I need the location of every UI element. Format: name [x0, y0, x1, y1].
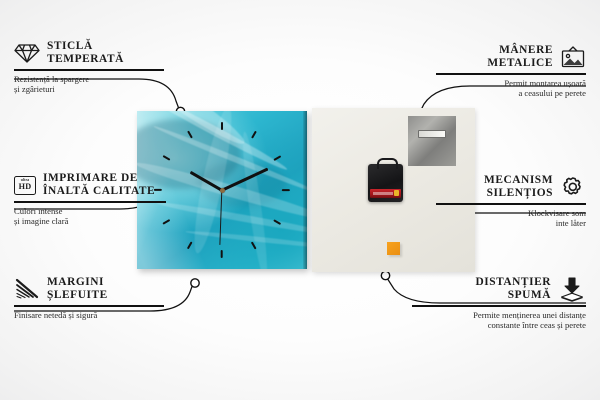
- diamond-icon: [14, 42, 40, 64]
- clock-tick: [251, 131, 256, 139]
- clock-center-pin: [220, 188, 225, 193]
- feature-title: STICLĂ TEMPERATĂ: [47, 40, 124, 66]
- clock-tick: [221, 250, 223, 258]
- feature-desc: Culori intense și imagine clară: [14, 206, 166, 227]
- feature-title: IMPRIMARE DE ÎNALTĂ CALITATE: [43, 172, 155, 198]
- feature-rule: [436, 73, 586, 74]
- foam-spacer-pad: [387, 242, 400, 255]
- feature-title: DISTANȚIER SPUMĂ: [475, 276, 551, 302]
- feature-desc: Klockvisare som inte låter: [436, 208, 586, 229]
- battery: [370, 189, 401, 198]
- gear-icon: [560, 175, 586, 199]
- hanging-frame-icon: [560, 45, 586, 69]
- ultra-hd-icon: ultra HD: [14, 176, 36, 195]
- feature-desc: Rezistență la spargere și zgârieturi: [14, 74, 164, 95]
- feature-tempered-glass: STICLĂ TEMPERATĂ Rezistență la spargere …: [14, 40, 164, 95]
- feature-rule: [412, 305, 586, 306]
- battery-label: [373, 192, 393, 195]
- feature-metal-handles: MÂNERE METALICE Permit montarea ușoară a…: [436, 44, 586, 99]
- clock-tick: [282, 189, 290, 191]
- feature-desc: Finisare netedă și sigură: [14, 310, 164, 320]
- press-down-icon: [558, 276, 586, 302]
- feature-silent-mechanism: MECANISM SILENȚIOS Klockvisare som inte …: [436, 174, 586, 229]
- clock-tick: [274, 155, 282, 160]
- clock-tick: [187, 242, 192, 250]
- feature-rule: [14, 69, 164, 70]
- feature-title: MECANISM SILENȚIOS: [484, 174, 553, 200]
- feature-title: MARGINI ȘLEFUITE: [47, 276, 108, 302]
- feature-title: MÂNERE METALICE: [487, 44, 553, 70]
- battery-plus-terminal: [394, 190, 399, 196]
- feature-desc: Permite menținerea unei distanțe constan…: [412, 310, 586, 331]
- connector-dot-foam-spacer: [381, 271, 389, 279]
- feature-rule: [14, 201, 166, 202]
- glass-edge-shadow: [303, 111, 307, 269]
- feature-rule: [14, 305, 164, 306]
- feature-desc: Permit montarea ușoară a ceasului pe per…: [436, 78, 586, 99]
- feature-rule: [436, 203, 586, 204]
- metal-hanger-plate: [408, 116, 456, 166]
- movement-hanging-loop: [377, 158, 398, 169]
- infographic-canvas: STICLĂ TEMPERATĂ Rezistență la spargere …: [0, 0, 600, 400]
- connector-dot-polished-edges: [191, 279, 199, 287]
- feature-polished-edges: MARGINI ȘLEFUITE Finisare netedă și sigu…: [14, 276, 164, 320]
- polished-edges-icon: [14, 278, 40, 300]
- hanger-slot: [418, 130, 446, 138]
- feature-hd-print: ultra HD IMPRIMARE DE ÎNALTĂ CALITATE Cu…: [14, 172, 166, 227]
- feature-foam-spacer: DISTANȚIER SPUMĂ Permite menținerea unei…: [412, 276, 586, 331]
- quartz-movement: [368, 164, 403, 202]
- clock-tick: [221, 122, 223, 130]
- ultra-hd-large-label: HD: [19, 183, 32, 191]
